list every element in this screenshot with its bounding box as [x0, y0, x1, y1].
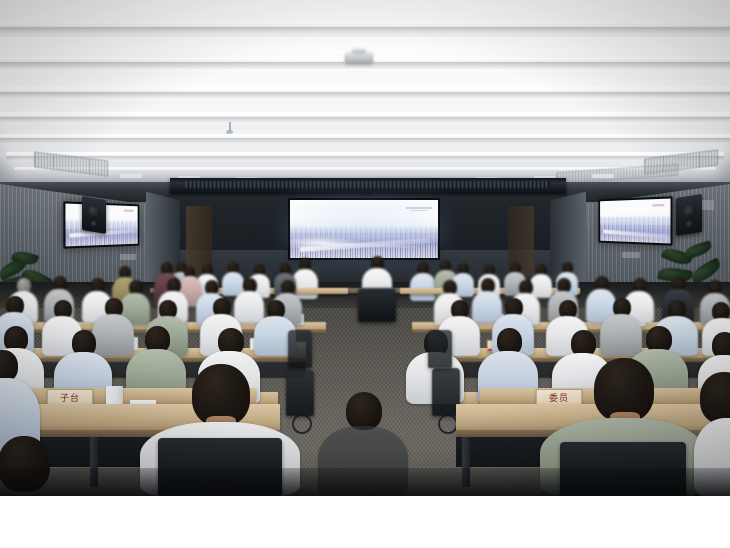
screen-highlight: [290, 236, 360, 250]
truss-grille: [186, 181, 550, 188]
speaker-tweeter-icon: [91, 221, 97, 228]
ceiling-led-shadow: [0, 92, 730, 98]
screen-watermark-line: [410, 210, 428, 211]
ceiling-led-shadow: [0, 138, 730, 143]
recessed-light: [592, 174, 614, 178]
right-screen-content: [600, 199, 670, 244]
office-chair: [288, 330, 312, 368]
right-wall-speaker: [676, 194, 702, 236]
right-display-screen[interactable]: [599, 196, 673, 245]
office-chair: [428, 330, 452, 368]
ceiling-led-shadow: [0, 27, 730, 35]
ceiling-led-shadow: [6, 156, 724, 160]
speaker-cone-icon: [683, 204, 696, 219]
bottom-margin: [0, 496, 730, 548]
ceiling-led-shadow: [0, 117, 730, 122]
right-wall-placard: [702, 200, 714, 210]
speaker-cone-icon: [88, 205, 100, 219]
attendee-torso: [410, 273, 436, 301]
plant-leaf: [683, 240, 713, 259]
screenshot-canvas: 子台 委员: [0, 0, 730, 548]
foreground-shadow: [0, 468, 730, 496]
ceiling-mount-bracket: [352, 48, 366, 53]
ceiling-led-strip: [0, 20, 730, 27]
main-screen-content: [290, 200, 438, 258]
screen-watermark-line: [406, 207, 432, 209]
recessed-light: [120, 174, 142, 178]
chair-caster-icon: [438, 414, 458, 434]
screen-sky: [290, 200, 438, 230]
attendee-head: [346, 392, 382, 430]
screen-watermark-line: [653, 204, 665, 206]
front-row-attendee: [410, 262, 436, 302]
ceiling-sensor-icon: [226, 130, 233, 134]
speaker-tweeter-icon: [686, 220, 693, 228]
name-placard-text: 子台: [60, 395, 80, 404]
ceiling-projector-housing: [345, 52, 373, 64]
left-wall-speaker: [82, 196, 106, 234]
front-row-chair: [358, 288, 396, 322]
right-wall-sign: [622, 252, 640, 258]
screen-watermark-line: [124, 210, 134, 212]
screen-sky: [600, 199, 670, 219]
main-display-screen[interactable]: [288, 198, 440, 260]
conference-room-photo: 子台 委员: [0, 0, 730, 496]
left-wall-sign: [120, 254, 136, 260]
attendee-head: [700, 372, 730, 424]
